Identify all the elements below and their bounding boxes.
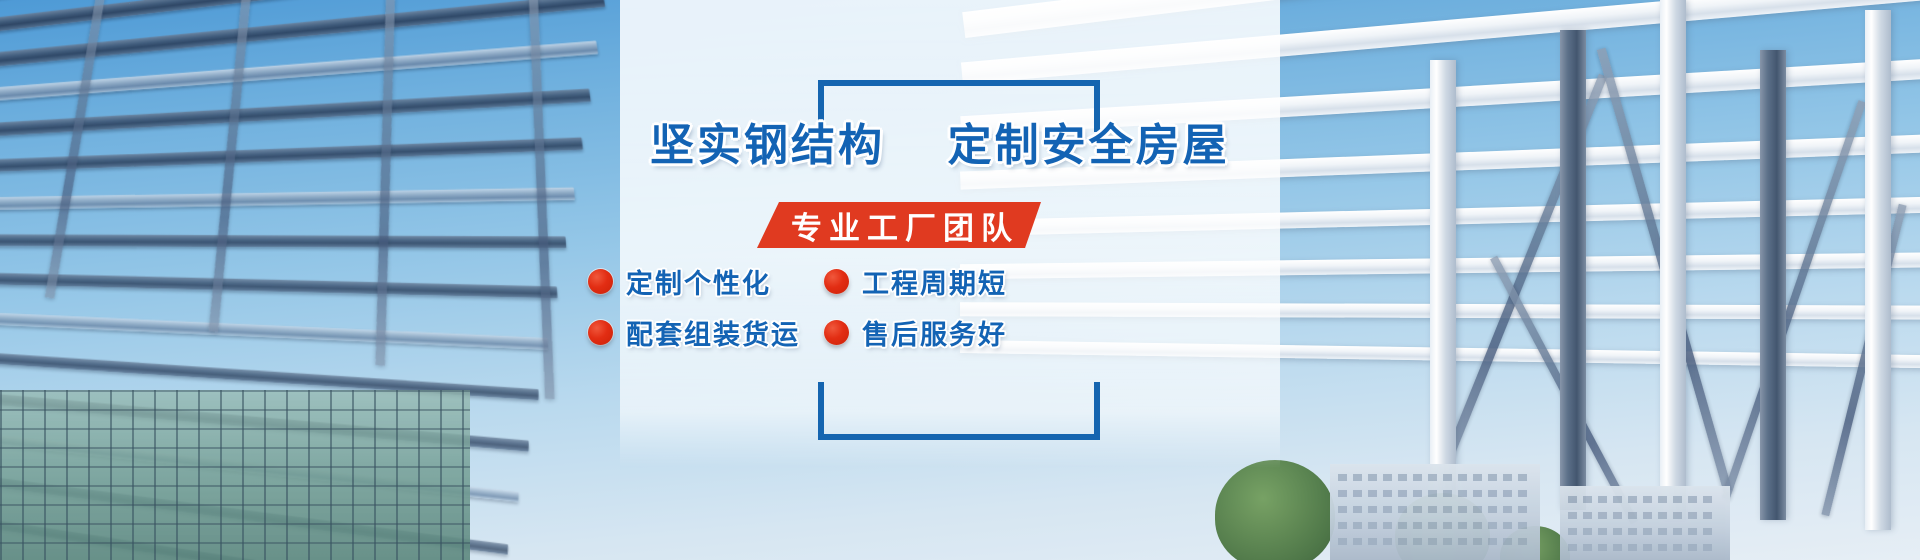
building-window	[1658, 512, 1667, 519]
feature-label: 定制个性化	[626, 262, 771, 301]
building-window	[1628, 496, 1637, 503]
building-window	[1428, 538, 1437, 545]
mullion	[66, 390, 68, 560]
mullion	[418, 390, 420, 560]
rail	[0, 466, 470, 468]
roof-purlin	[0, 307, 548, 349]
building-window	[1703, 528, 1712, 535]
building-window	[1458, 522, 1467, 529]
building-window	[1688, 496, 1697, 503]
building-window	[1628, 544, 1637, 551]
mullion	[176, 390, 178, 560]
mullion	[264, 390, 266, 560]
feature-item-3: 配套组装货运	[588, 313, 806, 352]
building-window	[1568, 528, 1577, 535]
building-window	[1413, 474, 1422, 481]
mullion	[22, 390, 24, 560]
building-window	[1488, 490, 1497, 497]
building-window	[1353, 474, 1362, 481]
steel-column	[1560, 30, 1586, 510]
building-window	[1473, 522, 1482, 529]
building-window	[1458, 474, 1467, 481]
building-window	[1613, 544, 1622, 551]
mullion	[374, 390, 376, 560]
building-window	[1598, 544, 1607, 551]
building-window	[1353, 522, 1362, 529]
red-dot-icon	[824, 269, 849, 294]
building-window	[1473, 474, 1482, 481]
building-window	[1443, 522, 1452, 529]
building-window	[1703, 512, 1712, 519]
building-window	[1673, 544, 1682, 551]
building-window	[1383, 474, 1392, 481]
mullion	[0, 390, 2, 560]
building-window	[1383, 538, 1392, 545]
building-window	[1473, 538, 1482, 545]
mullion	[88, 390, 90, 560]
building-window	[1413, 490, 1422, 497]
building-window	[1643, 496, 1652, 503]
building-window	[1568, 544, 1577, 551]
building-window	[1443, 506, 1452, 513]
building-window	[1658, 496, 1667, 503]
building-window	[1488, 506, 1497, 513]
building-window	[1518, 490, 1527, 497]
building-window	[1473, 506, 1482, 513]
building-window	[1518, 506, 1527, 513]
building-window	[1443, 474, 1452, 481]
building-window	[1368, 522, 1377, 529]
building-window	[1458, 506, 1467, 513]
building-window	[1673, 512, 1682, 519]
building-window	[1568, 496, 1577, 503]
building-window	[1628, 512, 1637, 519]
building-window	[1518, 474, 1527, 481]
building-window	[1613, 496, 1622, 503]
building-window	[1488, 538, 1497, 545]
building-window	[1398, 538, 1407, 545]
building-window	[1428, 474, 1437, 481]
rail	[0, 409, 470, 411]
rail	[0, 447, 470, 449]
ribbon-badge: 专业工厂团队	[757, 202, 1041, 248]
promo-banner: 坚实钢结构 定制安全房屋 专业工厂团队 定制个性化 工程周期短 配套组装货运 售…	[0, 0, 1920, 560]
steel-column	[1660, 0, 1686, 520]
roof-purlin	[0, 187, 575, 211]
building-window	[1658, 544, 1667, 551]
building-window	[1568, 512, 1577, 519]
tree-foliage	[1215, 460, 1335, 560]
roof-purlin	[0, 234, 566, 249]
roof-purlin	[0, 89, 591, 143]
building-window	[1338, 538, 1347, 545]
building-window	[1368, 506, 1377, 513]
feature-item-4: 售后服务好	[824, 313, 1042, 352]
building-window	[1518, 522, 1527, 529]
steel-column	[1865, 10, 1891, 530]
steel-column	[1430, 60, 1456, 500]
feature-item-2: 工程周期短	[824, 262, 1042, 301]
mullion	[308, 390, 310, 560]
building-window	[1583, 528, 1592, 535]
steel-column	[1760, 50, 1786, 520]
rail	[0, 523, 470, 525]
building-window	[1503, 490, 1512, 497]
building-window	[1353, 490, 1362, 497]
rail	[0, 485, 470, 487]
building-window	[1428, 522, 1437, 529]
building-window	[1503, 522, 1512, 529]
building-window	[1473, 490, 1482, 497]
building-window	[1673, 528, 1682, 535]
mullion	[220, 390, 222, 560]
building-window	[1338, 474, 1347, 481]
building-window	[1613, 512, 1622, 519]
building-window	[1383, 490, 1392, 497]
building-window	[1413, 522, 1422, 529]
mullion	[132, 390, 134, 560]
building-window	[1443, 490, 1452, 497]
feature-label: 售后服务好	[862, 313, 1007, 352]
mullion	[44, 390, 46, 560]
mullion	[154, 390, 156, 560]
building-window	[1503, 538, 1512, 545]
building-window	[1658, 528, 1667, 535]
distant-building	[1330, 464, 1540, 560]
building-window	[1643, 544, 1652, 551]
mullion	[440, 390, 442, 560]
banner-headline: 坚实钢结构 定制安全房屋	[650, 120, 1270, 172]
building-window	[1368, 474, 1377, 481]
rail	[0, 428, 470, 430]
headline-part-1: 坚实钢结构	[650, 120, 885, 171]
rail	[0, 542, 470, 544]
building-window	[1353, 538, 1362, 545]
building-window	[1338, 522, 1347, 529]
rail	[0, 390, 470, 392]
building-window	[1368, 490, 1377, 497]
building-window	[1428, 490, 1437, 497]
mullion	[462, 390, 464, 560]
building-window	[1398, 506, 1407, 513]
building-window	[1688, 528, 1697, 535]
red-dot-icon	[588, 269, 613, 294]
building-window	[1583, 496, 1592, 503]
ribbon-label: 专业工厂团队	[791, 203, 1019, 248]
building-window	[1488, 522, 1497, 529]
building-window	[1458, 490, 1467, 497]
building-window	[1643, 512, 1652, 519]
building-window	[1383, 506, 1392, 513]
roof-purlin	[0, 138, 583, 177]
building-window	[1518, 538, 1527, 545]
feature-label: 配套组装货运	[626, 313, 800, 352]
building-window	[1583, 544, 1592, 551]
red-dot-icon	[588, 320, 613, 345]
building-window	[1413, 506, 1422, 513]
building-window	[1338, 490, 1347, 497]
building-window	[1398, 522, 1407, 529]
feature-item-1: 定制个性化	[588, 262, 806, 301]
building-window	[1503, 474, 1512, 481]
building-window	[1598, 496, 1607, 503]
building-window	[1583, 512, 1592, 519]
roof-purlin	[0, 271, 557, 299]
building-window	[1443, 538, 1452, 545]
feature-list: 定制个性化 工程周期短 配套组装货运 售后服务好	[588, 262, 1148, 352]
building-window	[1383, 522, 1392, 529]
building-window	[1703, 544, 1712, 551]
building-window	[1398, 490, 1407, 497]
building-window	[1598, 512, 1607, 519]
building-window	[1488, 474, 1497, 481]
building-window	[1413, 538, 1422, 545]
distant-building	[1560, 486, 1730, 560]
building-window	[1428, 506, 1437, 513]
rail	[0, 504, 470, 506]
building-window	[1458, 538, 1467, 545]
building-window	[1598, 528, 1607, 535]
building-window	[1338, 506, 1347, 513]
building-window	[1613, 528, 1622, 535]
roof-rafter	[375, 0, 396, 366]
building-window	[1643, 528, 1652, 535]
building-window	[1368, 538, 1377, 545]
red-dot-icon	[824, 320, 849, 345]
glass-curtain-wall	[0, 390, 470, 560]
building-window	[1673, 496, 1682, 503]
building-window	[1398, 474, 1407, 481]
mullion	[396, 390, 398, 560]
headline-part-2: 定制安全房屋	[948, 120, 1230, 171]
building-window	[1353, 506, 1362, 513]
mullion	[330, 390, 332, 560]
building-window	[1628, 528, 1637, 535]
mullion	[286, 390, 288, 560]
mullion	[242, 390, 244, 560]
mullion	[110, 390, 112, 560]
building-window	[1503, 506, 1512, 513]
building-window	[1703, 496, 1712, 503]
mullion	[352, 390, 354, 560]
feature-label: 工程周期短	[862, 262, 1007, 301]
building-window	[1688, 512, 1697, 519]
building-window	[1688, 544, 1697, 551]
mullion	[198, 390, 200, 560]
